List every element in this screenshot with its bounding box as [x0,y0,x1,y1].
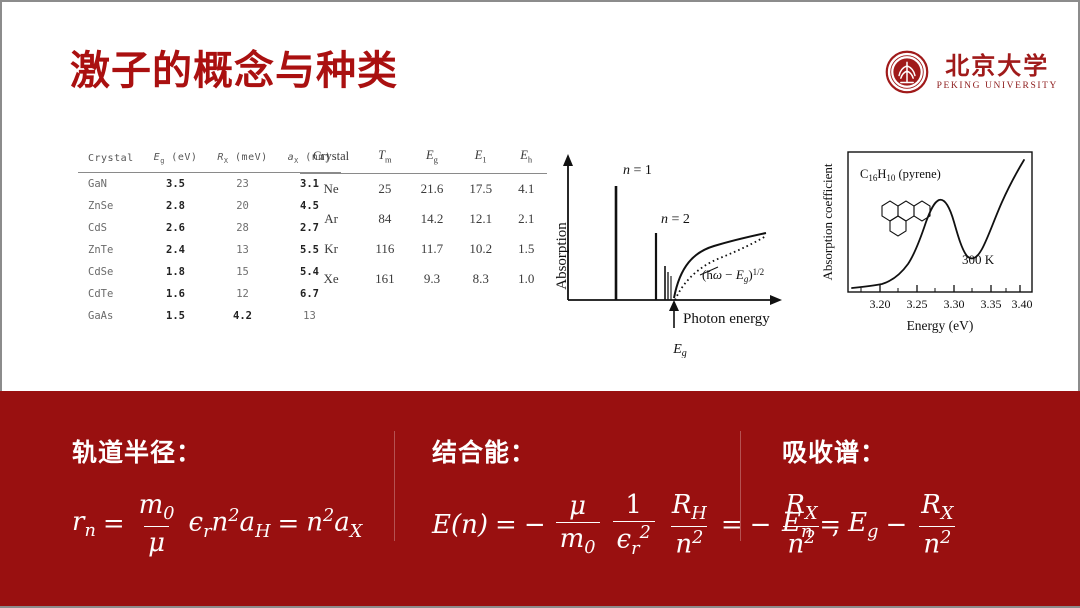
svg-text:3.20: 3.20 [870,297,891,311]
cell-eg: 2.6 [144,217,208,239]
cell-eg: 3.5 [144,173,208,196]
table-header-row: Crystal Tm Eg E1 Eh [300,148,547,172]
cell-crystal: Kr [300,234,362,264]
logo-name-cn: 北京大学 [945,53,1049,78]
col-e1: E1 [456,148,505,172]
col-eg: Eg (eV) [144,152,208,171]
formula-band: 轨道半径： rn = m0 μ ϵrn2aH = n2aX 结合能： E(n) … [0,391,1080,606]
cell-eg: 9.3 [408,264,457,294]
table-row: Kr 116 11.7 10.2 1.5 [300,234,547,264]
university-logo: 北京大学 PEKING UNIVERSITY [885,50,1058,94]
table-row: Ar 84 14.2 12.1 2.1 [300,204,547,234]
table-row: Xe 161 9.3 8.3 1.0 [300,264,547,294]
svg-text:3.30: 3.30 [944,297,965,311]
table-rare-gas-solids: Crystal Tm Eg E1 Eh Ne 25 21.6 17.5 4.1 … [300,148,547,294]
formula-heading: 吸收谱： [782,433,960,469]
table-row: GaAs 1.5 4.2 13 [78,305,341,327]
cell-e1: 12.1 [456,204,505,234]
figure-pyrene-spectrum: C16H10 (pyrene) 300 K 3.20 3.25 3.30 3.3… [812,144,1042,359]
cell-tm: 161 [362,264,408,294]
svg-text:n = 2: n = 2 [661,212,690,227]
cell-e1: 17.5 [456,173,505,204]
cell-crystal: Ar [300,204,362,234]
svg-text:Absorption: Absorption [554,222,570,290]
table-body: Ne 25 21.6 17.5 4.1 Ar 84 14.2 12.1 2.1 … [300,173,547,294]
svg-text:C16H10 (pyrene): C16H10 (pyrene) [860,167,941,183]
cell-tm: 84 [362,204,408,234]
cell-rx: 20 [207,195,277,217]
peking-university-seal-icon [885,50,929,94]
cell-rx: 15 [207,261,277,283]
cell-crystal: CdS [78,217,144,239]
cell-eg: 1.8 [144,261,208,283]
cell-crystal: Ne [300,173,362,204]
cell-crystal: Xe [300,264,362,294]
formula-column-orbital-radius: 轨道半径： rn = m0 μ ϵrn2aH = n2aX [72,433,362,557]
formula-divider-1 [394,431,395,541]
absorption-schematic-svg: n = 1 n = 2 Absorption Eg Photon energy … [528,148,788,358]
svg-text:Eg: Eg [672,342,687,358]
svg-text:Energy (eV): Energy (eV) [907,318,974,333]
svg-text:300 K: 300 K [962,252,995,267]
formula-binding-energy: E(n) = − μ m0 1 ϵr2 RH n2 = − RX [432,491,840,559]
svg-text:(ħω − Eg)1/2: (ħω − Eg)1/2 [702,267,764,284]
formula-column-binding-energy: 结合能： E(n) = − μ m0 1 ϵr2 RH n2 = − [432,433,840,559]
formula-absorption-energy: En = Eg − RX n2 [782,491,960,559]
col-eg: Eg [408,148,457,172]
cell-tm: 116 [362,234,408,264]
formula-heading: 轨道半径： [72,433,362,469]
formula-orbital-radius: rn = m0 μ ϵrn2aH = n2aX [72,491,362,557]
slide: 激子的概念与种类 北京大学 PEKING UNIVERSITY Crystal … [0,0,1080,608]
cell-rx: 23 [207,173,277,196]
cell-eg: 2.4 [144,239,208,261]
cell-rx: 13 [207,239,277,261]
formula-column-absorption: 吸收谱： En = Eg − RX n2 [782,433,960,559]
cell-crystal: GaAs [78,305,144,327]
cell-tm: 25 [362,173,408,204]
col-crystal: Crystal [78,152,144,171]
cell-ax: 13 [278,305,342,327]
cell-rx: 28 [207,217,277,239]
col-rx: RX (meV) [207,152,277,171]
cell-crystal: ZnTe [78,239,144,261]
table-row: Ne 25 21.6 17.5 4.1 [300,173,547,204]
logo-name-en: PEKING UNIVERSITY [937,81,1058,91]
cell-eg: 1.5 [144,305,208,327]
formula-heading: 结合能： [432,433,840,469]
svg-text:Absorption coefficient: Absorption coefficient [820,163,835,280]
cell-crystal: ZnSe [78,195,144,217]
cell-crystal: CdSe [78,261,144,283]
page-title: 激子的概念与种类 [70,38,398,96]
cell-eg: 21.6 [408,173,457,204]
cell-crystal: CdTe [78,283,144,305]
content-area: Crystal Eg (eV) RX (meV) aX (nm) GaN 3.5… [0,120,1080,385]
pyrene-spectrum-svg: C16H10 (pyrene) 300 K 3.20 3.25 3.30 3.3… [812,144,1042,359]
logo-wordmark: 北京大学 PEKING UNIVERSITY [937,53,1058,90]
cell-eg: 11.7 [408,234,457,264]
cell-e1: 8.3 [456,264,505,294]
cell-crystal: GaN [78,173,144,196]
cell-eg: 14.2 [408,204,457,234]
figure-excitonic-absorption: n = 1 n = 2 Absorption Eg Photon energy … [528,148,788,358]
svg-text:Photon energy: Photon energy [683,311,770,327]
svg-text:3.40: 3.40 [1012,297,1033,311]
cell-rx: 12 [207,283,277,305]
col-tm: Tm [362,148,408,172]
cell-eg: 2.8 [144,195,208,217]
col-crystal: Crystal [300,148,362,172]
cell-e1: 10.2 [456,234,505,264]
cell-rx: 4.2 [207,305,277,327]
svg-text:3.25: 3.25 [907,297,928,311]
svg-text:3.35: 3.35 [981,297,1002,311]
cell-eg: 1.6 [144,283,208,305]
svg-text:n = 1: n = 1 [623,163,652,178]
